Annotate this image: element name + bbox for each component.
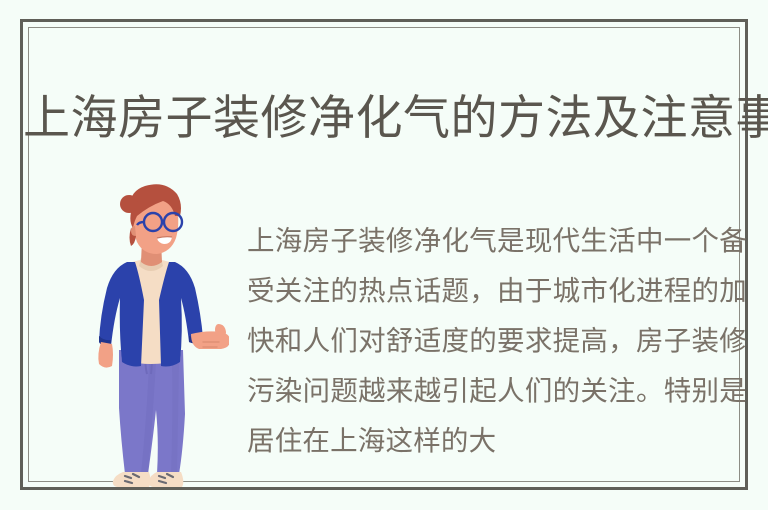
left-shoe [113, 472, 151, 487]
hair-bun [120, 195, 138, 213]
article-card: 上海房子装修净化气的方法及注意事项 [20, 19, 748, 490]
right-thumb [215, 324, 226, 337]
person-illustration [79, 182, 229, 492]
page-title: 上海房子装修净化气的方法及注意事项 [23, 91, 745, 145]
article-content-row: 上海房子装修净化气是现代生活中一个备受关注的热点话题，由于城市化进程的加快和人们… [23, 162, 745, 482]
article-body-text: 上海房子装修净化气是现代生活中一个备受关注的热点话题，由于城市化进程的加快和人们… [247, 216, 747, 466]
left-hand [98, 342, 113, 368]
person-illustration-svg [79, 182, 229, 492]
